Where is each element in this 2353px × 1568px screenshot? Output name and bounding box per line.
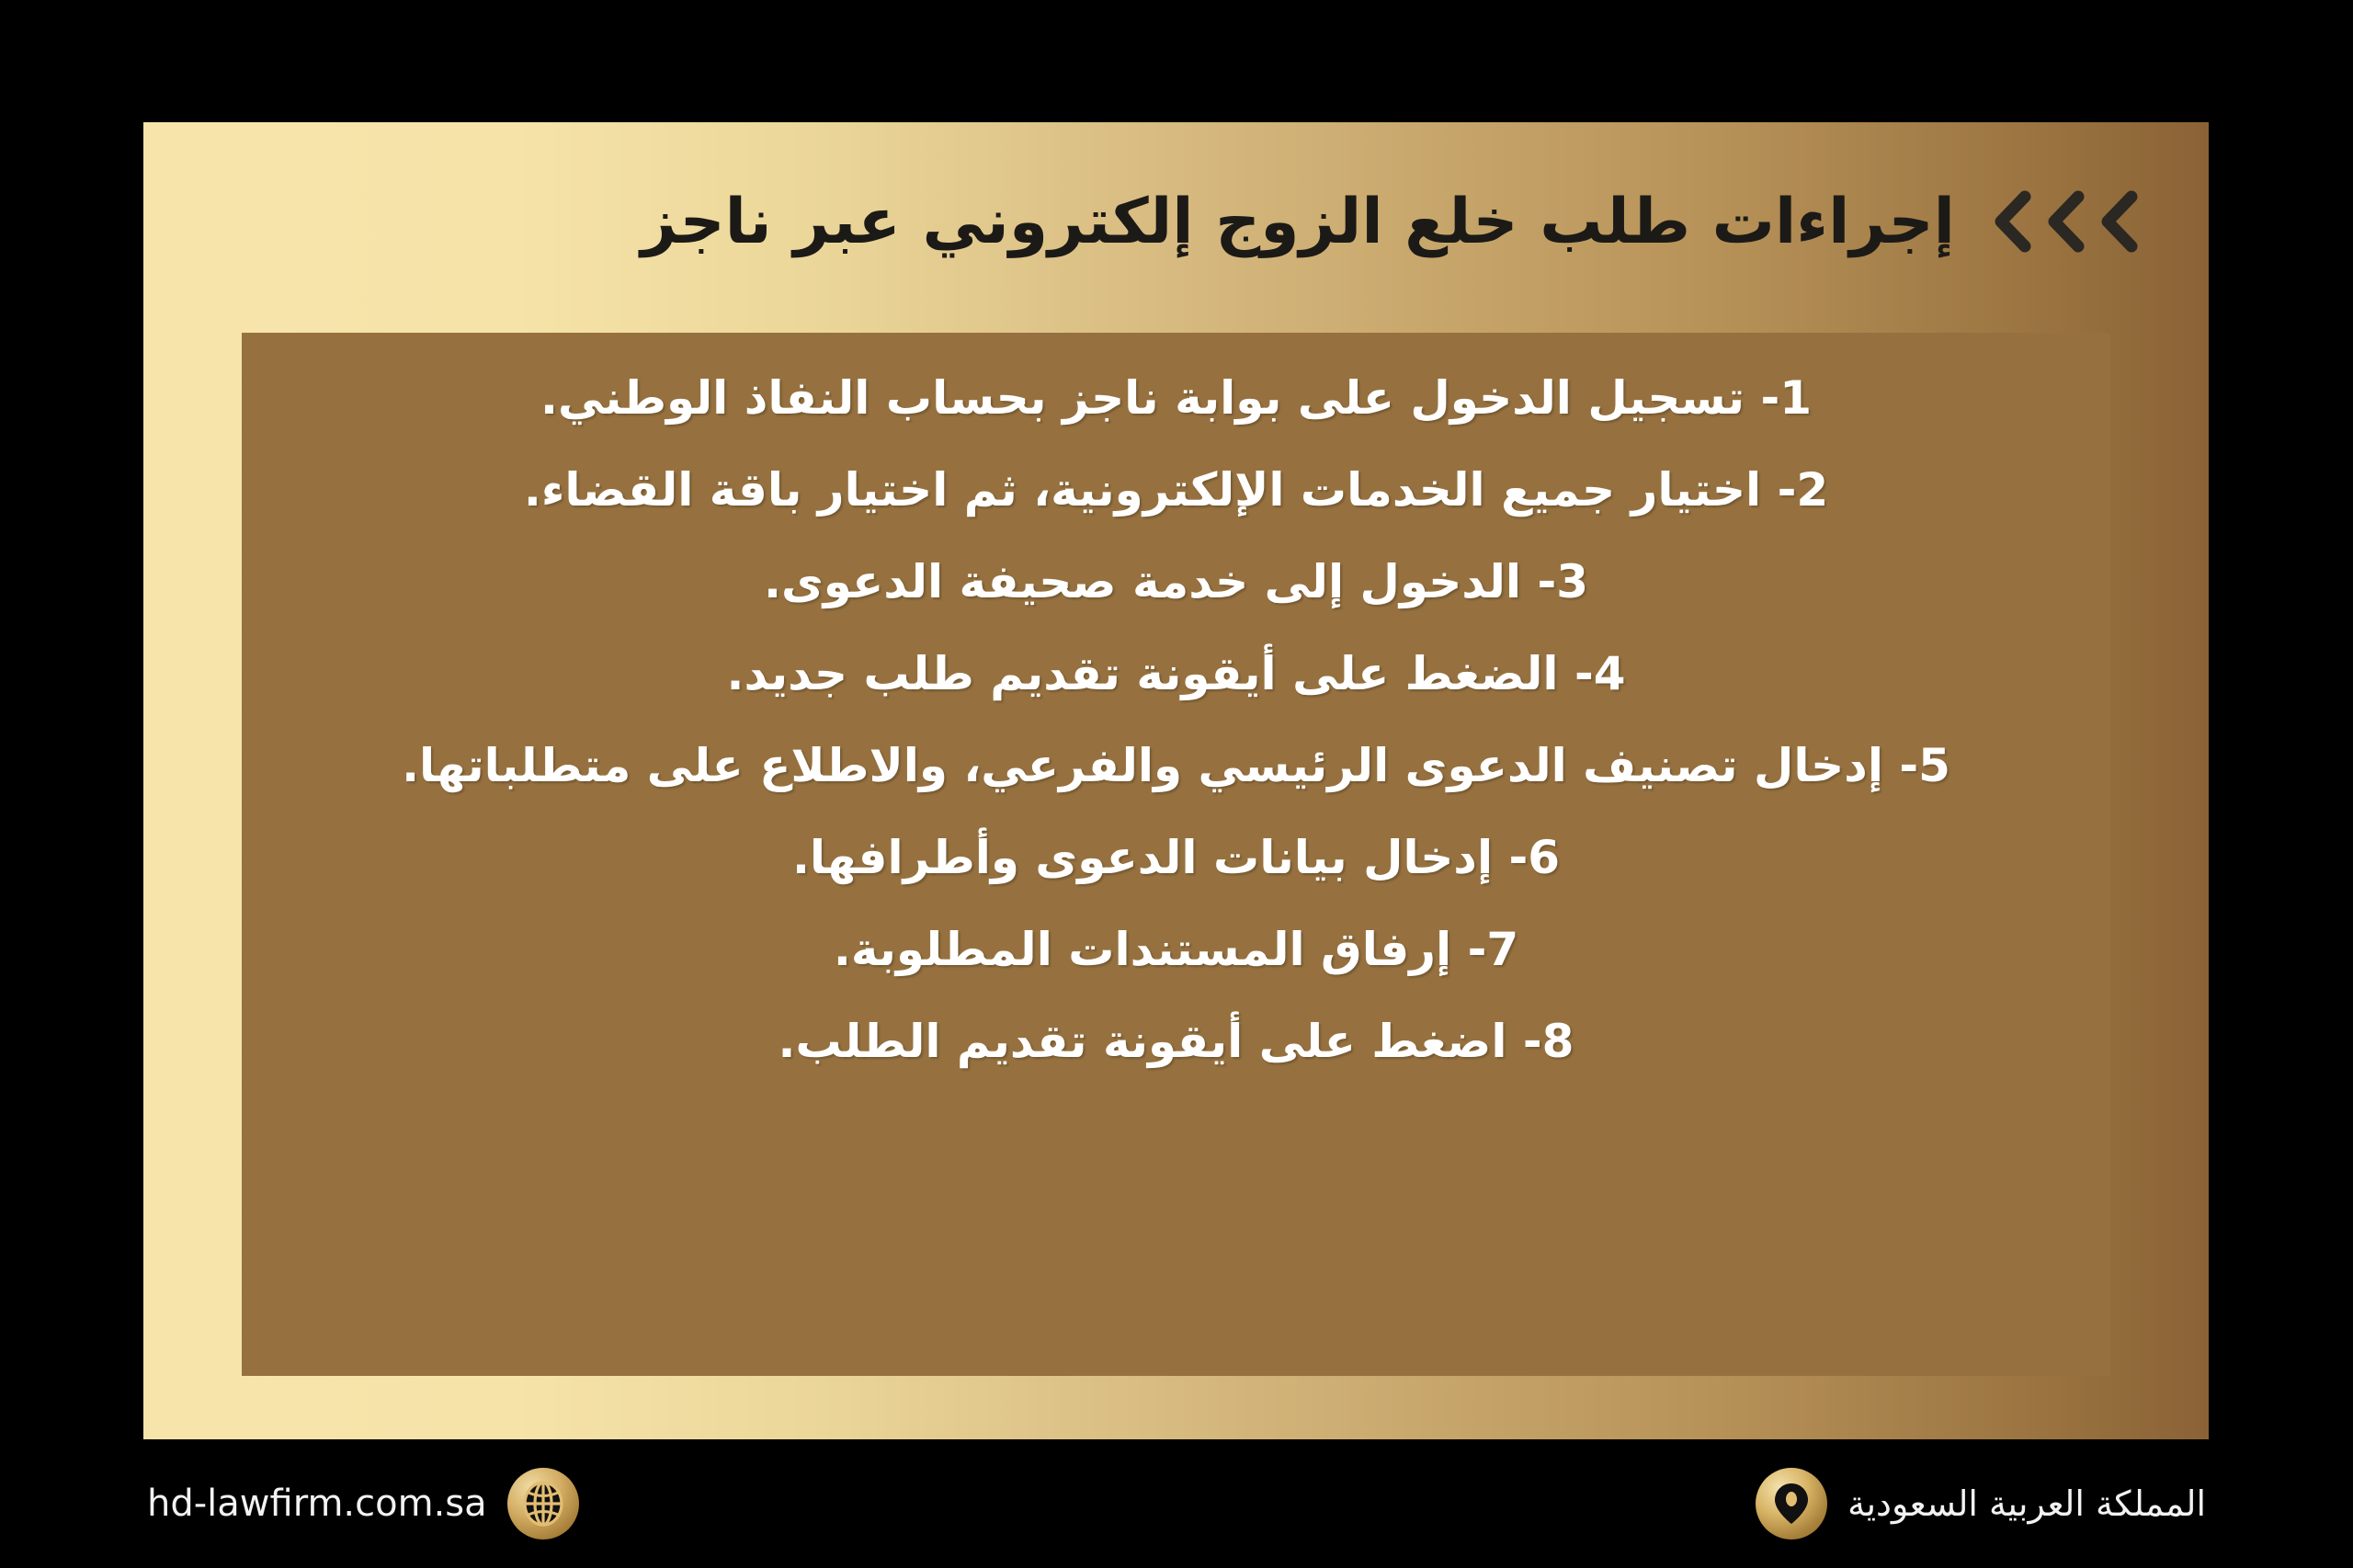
list-item: 2- اختيار جميع الخدمات الإلكترونية، ثم ا…	[308, 456, 2044, 524]
globe-icon	[507, 1468, 579, 1540]
list-item: 4- الضغط على أيقونة تقديم طلب جديد.	[308, 640, 2044, 708]
steps-panel: 1- تسجيل الدخول على بوابة ناجز بحساب الن…	[242, 333, 2110, 1376]
footer-website-label[interactable]: hd-lawfirm.com.sa	[147, 1485, 487, 1522]
chevron-left-triple-icon	[1986, 187, 2144, 256]
footer-website[interactable]: hd-lawfirm.com.sa	[147, 1468, 579, 1540]
title-row: إجراءات طلب خلع الزوج إلكتروني عبر ناجز	[143, 148, 2209, 295]
list-item: 5- إدخال تصنيف الدعوى الرئيسي والفرعي، و…	[308, 732, 2044, 800]
page-title: إجراءات طلب خلع الزوج إلكتروني عبر ناجز	[641, 183, 1955, 261]
location-pin-icon	[1756, 1468, 1827, 1540]
list-item: 1- تسجيل الدخول على بوابة ناجز بحساب الن…	[308, 364, 2044, 432]
list-item: 8- اضغط على أيقونة تقديم الطلب.	[308, 1007, 2044, 1075]
footer-location-label: المملكة العربية السعودية	[1847, 1486, 2206, 1521]
poster-root: إجراءات طلب خلع الزوج إلكتروني عبر ناجز …	[0, 0, 2353, 1568]
footer-bar: المملكة العربية السعودية hd-lawfirm.com.…	[0, 1439, 2353, 1568]
list-item: 6- إدخال بيانات الدعوى وأطرافها.	[308, 824, 2044, 892]
list-item: 3- الدخول إلى خدمة صحيفة الدعوى.	[308, 548, 2044, 616]
content-card: إجراءات طلب خلع الزوج إلكتروني عبر ناجز …	[143, 122, 2209, 1439]
footer-location: المملكة العربية السعودية	[1756, 1468, 2206, 1540]
steps-list: 1- تسجيل الدخول على بوابة ناجز بحساب الن…	[242, 333, 2110, 1075]
list-item: 7- إرفاق المستندات المطلوبة.	[308, 915, 2044, 983]
